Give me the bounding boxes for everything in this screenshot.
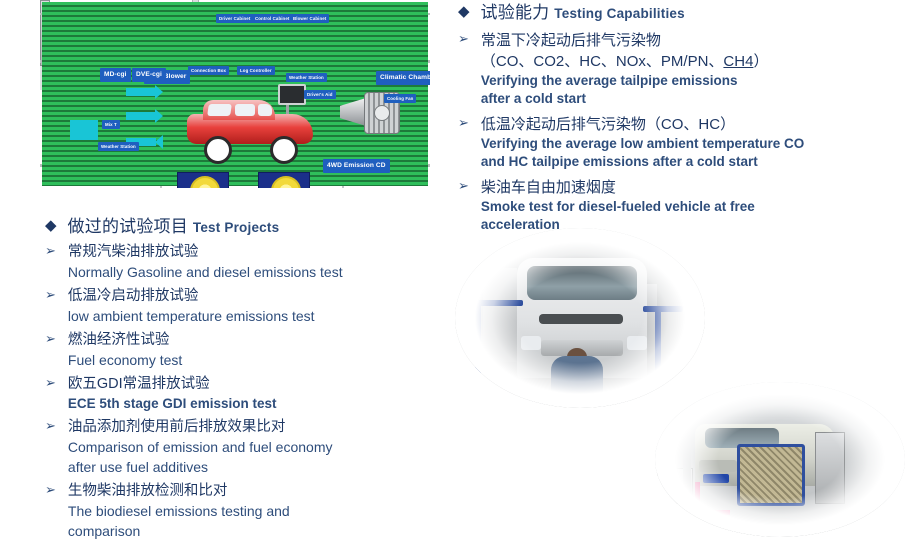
- diagram-label: Connection Box: [188, 66, 229, 75]
- technician-torso: [551, 356, 603, 404]
- blue-guard-rail: [475, 300, 523, 306]
- capabilities-heading-cn: 试验能力: [481, 3, 550, 22]
- testing-capabilities-block: ◆ 试验能力 Testing Capabilities ➢ 常温下冷起动后排气污…: [458, 2, 908, 234]
- project-en-line1: Comparison of emission and fuel economy: [68, 437, 333, 457]
- photo-van-scene: [455, 228, 705, 408]
- project-en-line2: comparison: [68, 521, 290, 541]
- arrow-bullet-icon: ➢: [45, 242, 56, 261]
- van-hood-vent: [539, 314, 623, 324]
- arrow-bullet-icon: ➢: [458, 114, 469, 133]
- blue-guard-rail: [655, 306, 661, 386]
- ceiling-light: [809, 390, 849, 395]
- pink-sampling-hose: [695, 482, 730, 515]
- project-item-body: 燃油经济性试验 Fuel economy test: [68, 330, 182, 370]
- vehicle-wheel: [270, 136, 298, 164]
- project-item: ➢ 欧五GDI常温排放试验 ECE 5th stage GDI emission…: [45, 374, 445, 413]
- capability-cn-pollutants: （CO、CO2、HC、NOx、PM/PN、CH4）: [481, 51, 769, 72]
- project-item-body: 低温冷启动排放试验 low ambient temperature emissi…: [68, 286, 315, 326]
- capability-en-line1: Smoke test for diesel-fueled vehicle at …: [481, 198, 755, 216]
- vehicle-window: [235, 104, 255, 116]
- vehicle-window: [207, 104, 232, 116]
- project-en-line2: after use fuel additives: [68, 457, 333, 477]
- projects-heading-row: ◆ 做过的试验项目 Test Projects: [45, 216, 445, 238]
- capability-item-body: 柴油车自由加速烟度 Smoke test for diesel-fueled v…: [481, 177, 755, 234]
- projects-heading-cn: 做过的试验项目: [68, 217, 188, 236]
- diagram-label: Cooling Fan: [384, 94, 416, 103]
- photo-van-in-emission-test-chamber: [455, 228, 705, 408]
- arrow-bullet-icon: ➢: [45, 330, 56, 349]
- dyno-roller-unit: [258, 172, 310, 188]
- project-cn: 常规汽柴油排放试验: [68, 242, 343, 262]
- diagram-label: Control Cabinet: [252, 14, 292, 23]
- diagram-label: Climatic Chamber: [376, 71, 430, 85]
- capabilities-heading-en: Testing Capabilities: [554, 6, 685, 21]
- diagram-label: Weather Station: [98, 142, 139, 151]
- dyno-roller-unit: [177, 172, 229, 188]
- arrow-bullet-icon: ➢: [458, 30, 469, 49]
- airflow-arrow: [126, 112, 156, 120]
- arrow-bullet-icon: ➢: [45, 481, 56, 500]
- diagram-label: Weather Station: [286, 73, 327, 82]
- project-item: ➢ 燃油经济性试验 Fuel economy test: [45, 330, 445, 370]
- project-cn: 生物柴油排放检测和比对: [68, 481, 290, 501]
- capability-en-line1: Verifying the average tailpipe emissions: [481, 72, 769, 90]
- chamber-equipment-left: [483, 268, 517, 362]
- capability-cn: 常温下冷起动后排气污染物: [481, 30, 769, 51]
- cooling-fan-assembly: [737, 444, 805, 506]
- pollutant-list-open: （CO、CO2、HC、NOx、PM/PN、: [481, 53, 724, 70]
- capability-en-line1: Verifying the average low ambient temper…: [481, 135, 804, 153]
- photo-suv-on-chassis-dynamometer: [655, 382, 905, 537]
- project-item: ➢ 常规汽柴油排放试验 Normally Gasoline and diesel…: [45, 242, 445, 282]
- project-item-body: 常规汽柴油排放试验 Normally Gasoline and diesel e…: [68, 242, 343, 282]
- project-cn: 油品添加剂使用前后排放效果比对: [68, 417, 333, 437]
- project-en-line1: Fuel economy test: [68, 350, 182, 370]
- ceiling-light: [685, 390, 731, 395]
- project-item-body: 欧五GDI常温排放试验 ECE 5th stage GDI emission t…: [68, 374, 277, 413]
- diamond-bullet-icon: ◆: [458, 2, 470, 22]
- capability-cn: 低温冷起动后排气污染物（CO、HC）: [481, 114, 804, 135]
- blue-guard-rail: [475, 300, 481, 386]
- airflow-arrow: [126, 88, 156, 96]
- capability-en-line2: and HC tailpipe emissions after a cold s…: [481, 153, 804, 171]
- capabilities-heading: 试验能力 Testing Capabilities: [481, 2, 685, 24]
- emissions-test-cell-diagram: Driver CabinetControl CabinetBlower Cabi…: [40, 0, 430, 188]
- pollutant-list-close: ）: [753, 53, 768, 70]
- project-item-body: 生物柴油排放检测和比对 The biodiesel emissions test…: [68, 481, 290, 541]
- project-item: ➢ 生物柴油排放检测和比对 The biodiesel emissions te…: [45, 481, 445, 541]
- capability-item: ➢ 柴油车自由加速烟度 Smoke test for diesel-fueled…: [458, 177, 908, 234]
- van-headlamp: [627, 336, 647, 350]
- chamber-support-pole: [683, 444, 691, 506]
- blue-guard-rail: [643, 306, 683, 312]
- projects-heading-en: Test Projects: [193, 220, 279, 235]
- van-windshield: [527, 266, 637, 300]
- diagram-label: 4WD Emission CD: [323, 159, 390, 173]
- project-item-body: 油品添加剂使用前后排放效果比对 Comparison of emission a…: [68, 417, 333, 477]
- capability-item-body: 常温下冷起动后排气污染物 （CO、CO2、HC、NOx、PM/PN、CH4） V…: [481, 30, 769, 108]
- capability-item-body: 低温冷起动后排气污染物（CO、HC） Verifying the average…: [481, 114, 804, 171]
- project-item: ➢ 低温冷启动排放试验 low ambient temperature emis…: [45, 286, 445, 326]
- diagram-label: DVE-cgi: [132, 68, 166, 82]
- suv-grille: [699, 460, 737, 472]
- ceiling-light: [747, 390, 793, 395]
- vehicle-wheel: [204, 136, 232, 164]
- capability-item: ➢ 低温冷起动后排气污染物（CO、HC） Verifying the avera…: [458, 114, 908, 171]
- project-en-line1: ECE 5th stage GDI emission test: [68, 394, 277, 413]
- projects-heading: 做过的试验项目 Test Projects: [68, 216, 280, 238]
- diagram-label: Log Controller: [237, 66, 275, 75]
- project-item: ➢ 油品添加剂使用前后排放效果比对 Comparison of emission…: [45, 417, 445, 477]
- project-cn: 燃油经济性试验: [68, 330, 182, 350]
- mix-t-unit: [70, 120, 98, 140]
- project-cn: 欧五GDI常温排放试验: [68, 374, 277, 394]
- arrow-bullet-icon: ➢: [45, 286, 56, 305]
- project-en-line1: low ambient temperature emissions test: [68, 306, 315, 326]
- arrow-bullet-icon: ➢: [458, 177, 469, 196]
- project-cn: 低温冷启动排放试验: [68, 286, 315, 306]
- diamond-bullet-icon: ◆: [45, 216, 57, 236]
- weather-station-display: [40, 66, 74, 90]
- photo-chamber-scene: [655, 382, 905, 537]
- capability-item: ➢ 常温下冷起动后排气污染物 （CO、CO2、HC、NOx、PM/PN、CH4）…: [458, 30, 908, 108]
- diagram-label: Driver's Aid: [304, 90, 336, 99]
- test-vehicle-illustration: [187, 100, 313, 152]
- diagram-label: Blower Cabinet: [290, 14, 329, 23]
- diagram-label: Driver Cabinet: [216, 14, 253, 23]
- chamber-ceiling: [655, 382, 905, 418]
- vehicle-window: [258, 104, 272, 116]
- fan-hub: [374, 105, 390, 121]
- project-en-line1: Normally Gasoline and diesel emissions t…: [68, 262, 343, 282]
- arrow-bullet-icon: ➢: [45, 374, 56, 393]
- van-headlamp: [521, 336, 541, 350]
- diagram-label: Mix T: [102, 120, 120, 129]
- diagram-label: MD-cgi: [100, 68, 131, 82]
- project-en-line1: The biodiesel emissions testing and: [68, 501, 290, 521]
- capability-cn: 柴油车自由加速烟度: [481, 177, 755, 198]
- arrow-bullet-icon: ➢: [45, 417, 56, 436]
- test-projects-block: ◆ 做过的试验项目 Test Projects ➢ 常规汽柴油排放试验 Norm…: [45, 216, 445, 541]
- chamber-instrument-cabinet: [815, 432, 845, 504]
- fan-cone: [340, 98, 366, 126]
- capability-en-line2: after a cold start: [481, 90, 769, 108]
- slide-root: Driver CabinetControl CabinetBlower Cabi…: [0, 0, 910, 540]
- capabilities-heading-row: ◆ 试验能力 Testing Capabilities: [458, 2, 908, 24]
- dyno-roller-disc: [271, 176, 301, 188]
- dyno-roller-disc: [190, 176, 220, 188]
- pollutant-ch4: CH4: [723, 53, 753, 70]
